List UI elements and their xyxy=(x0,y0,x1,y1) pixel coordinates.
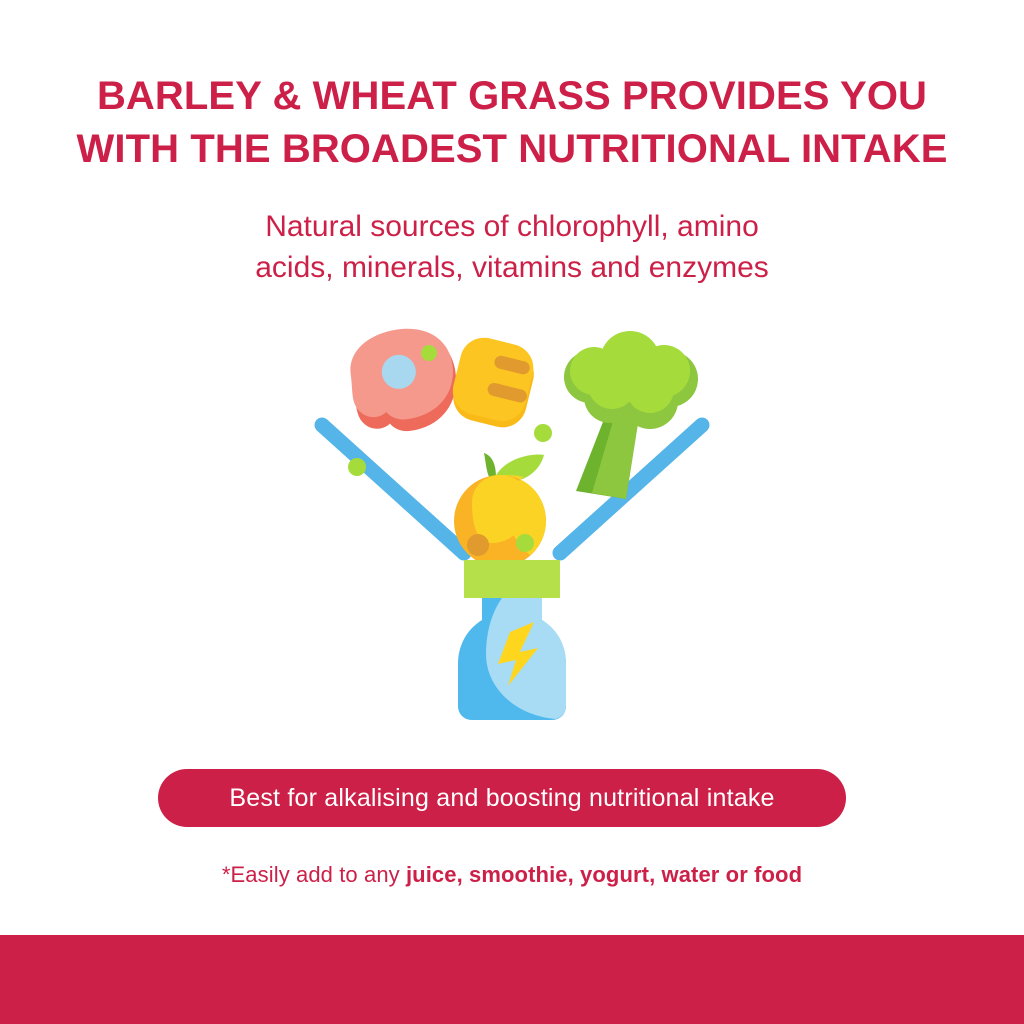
footnote-bold: juice, smoothie, yogurt, water or food xyxy=(406,862,802,887)
page-subtitle: Natural sources of chlorophyll, amino ac… xyxy=(0,206,1024,288)
infographic-page: BARLEY & WHEAT GRASS PROVIDES YOU WITH T… xyxy=(0,0,1024,1024)
headline-line-1-post: YOU xyxy=(830,74,927,118)
orange-fruit-icon xyxy=(454,453,546,567)
headline-emphasis-provides: PROVIDES xyxy=(622,74,830,118)
subtitle-line-1: Natural sources of chlorophyll, amino xyxy=(0,206,1024,247)
sparkle-dot-icon xyxy=(516,534,534,552)
funnel-line-left-icon xyxy=(322,425,464,553)
footer-bar xyxy=(0,935,1024,1024)
illustration-svg xyxy=(297,325,727,725)
bottle-cap-icon xyxy=(464,560,560,598)
status-badge: Best for alkalising and boosting nutriti… xyxy=(158,769,846,827)
subtitle-line-2: acids, minerals, vitamins and enzymes xyxy=(0,247,1024,288)
sparkle-dot-icon xyxy=(348,458,366,476)
footnote-prefix: *Easily add to any xyxy=(222,862,406,887)
headline-line-2: WITH THE BROADEST NUTRITIONAL INTAKE xyxy=(0,123,1024,176)
headline-line-1-pre: BARLEY & WHEAT GRASS xyxy=(97,74,622,118)
page-title: BARLEY & WHEAT GRASS PROVIDES YOU WITH T… xyxy=(0,70,1024,176)
sparkle-dot-icon xyxy=(534,424,552,442)
broccoli-icon xyxy=(564,331,698,499)
food-funnel-illustration xyxy=(297,325,727,725)
sparkle-dot-icon xyxy=(421,345,437,361)
footnote: *Easily add to any juice, smoothie, yogu… xyxy=(0,862,1024,888)
steak-icon xyxy=(344,325,462,438)
cheese-icon xyxy=(446,333,540,433)
headline-line-1: BARLEY & WHEAT GRASS PROVIDES YOU xyxy=(0,70,1024,123)
supplement-bottle-icon xyxy=(458,560,566,720)
